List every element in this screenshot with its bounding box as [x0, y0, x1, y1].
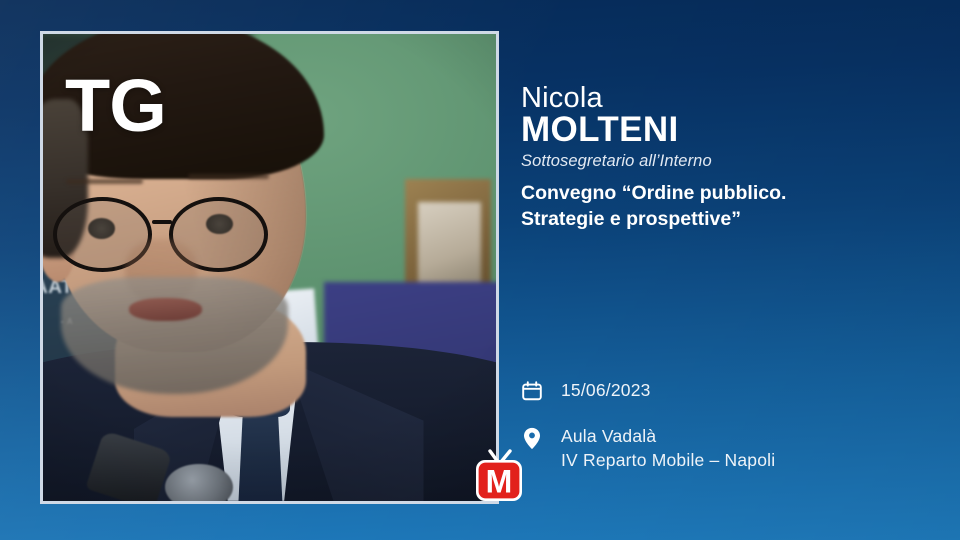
logo-letter: M: [486, 464, 513, 500]
event-location-line2: IV Reparto Mobile – Napoli: [561, 449, 775, 473]
speaker-role: Sottosegretario all’Interno: [521, 152, 712, 171]
event-location-line1: Aula Vadalà: [561, 425, 775, 449]
event-date: 15/06/2023: [561, 379, 651, 403]
event-title: Convegno “Ordine pubblico. Strategie e p…: [521, 180, 786, 232]
calendar-icon: [521, 378, 543, 404]
channel-logo[interactable]: M: [470, 445, 528, 503]
tg-watermark: TG: [65, 76, 166, 137]
video-panel[interactable]: “ AATE E ” - A Segretario GIACO V: [40, 31, 499, 504]
event-location: Aula Vadalà IV Reparto Mobile – Napoli: [561, 425, 775, 473]
event-date-row: 15/06/2023: [521, 378, 651, 404]
lower-third-info: Nicola MOLTENI Sottosegretario all’Inter…: [521, 0, 941, 540]
speaker-last-name: MOLTENI: [521, 110, 679, 150]
event-title-line2: Strategie e prospettive”: [521, 206, 786, 232]
calendar-icon-svg: [521, 380, 543, 402]
video-frame: “ AATE E ” - A Segretario GIACO V: [43, 34, 496, 501]
channel-logo-svg: M: [470, 445, 528, 503]
event-title-line1: Convegno “Ordine pubblico.: [521, 180, 786, 206]
event-location-row: Aula Vadalà IV Reparto Mobile – Napoli: [521, 425, 775, 473]
broadcast-lower-third-graphic: “ AATE E ” - A Segretario GIACO V: [0, 0, 960, 540]
